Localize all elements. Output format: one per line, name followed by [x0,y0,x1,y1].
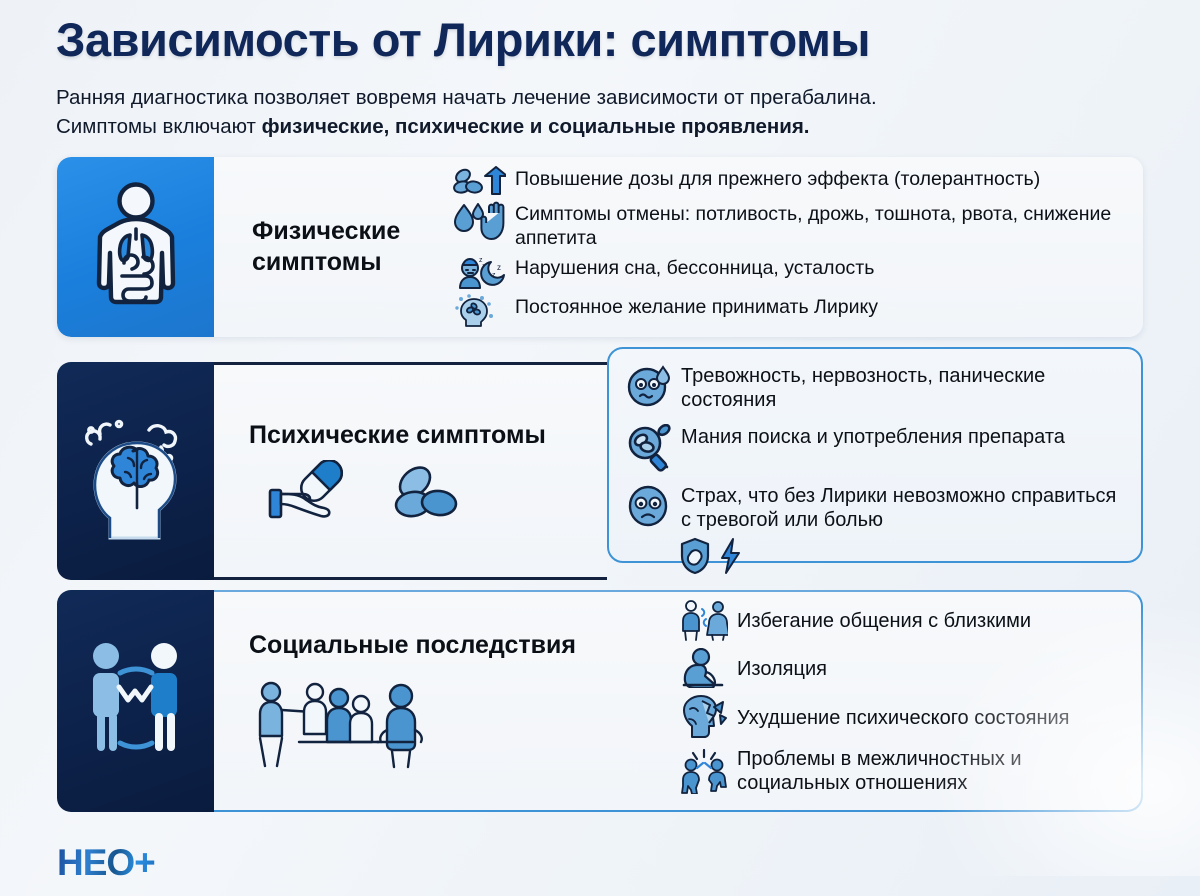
list-item-label: Проблемы в межличностных и социальных от… [737,746,1127,795]
list-item-label: Избегание общения с близкими [737,608,1031,633]
list-item: Мания поиска и употребления препарата [627,424,1127,472]
anxious-face-sweat-icon [627,363,671,409]
mental-section-title: Психические симптомы [249,420,546,451]
mental-extra-icons [627,537,1127,575]
physical-section-title: Физические симптомы [252,216,452,277]
lightning-bolt-icon [719,537,743,575]
list-item: Избегание общения с близкими [680,599,1127,641]
conflict-people-icon [680,748,728,794]
brand-logo: НЕО+ [57,842,155,884]
list-item-label: Тревожность, нервозность, панические сос… [681,363,1127,413]
magnifier-pills-search-icon [627,424,671,472]
human-body-organs-icon [84,181,188,313]
page-subtitle: Ранняя диагностика позволяет вовремя нач… [56,83,1144,141]
subtitle-line-1: Ранняя диагностика позволяет вовремя нач… [56,86,877,109]
list-item: Постоянное желание принимать Лирику [452,294,1125,328]
subtitle-line-2-normal: Симптомы включают [56,115,262,138]
craving-head-icon [452,294,506,328]
list-item: Страх, что без Лирики невозможно справит… [627,483,1127,533]
deteriorating-mind-icon [680,695,728,739]
list-item-label: Ухудшение психического состояния [737,705,1070,730]
list-item: Тревожность, нервозность, панические сос… [627,363,1127,413]
pills-icon [391,462,465,520]
sleeping-person-moon-icon: zz zz [452,255,506,289]
physical-icon-tile [57,157,214,337]
social-icon-tile [57,590,214,812]
isolated-person-icon [680,648,728,688]
list-item-label: Повышение дозы для прежнего эффекта (тол… [515,166,1040,191]
social-body-pane: Социальные последствия [214,590,1143,812]
pills-arrow-up-icon [452,166,506,196]
list-item: Изоляция [680,648,1127,688]
footer: НЕО+ [57,842,155,884]
section-mental-symptoms: Психические симптомы [57,362,607,580]
list-item-label: Изоляция [737,656,827,681]
list-item-label: Страх, что без Лирики невозможно справит… [681,483,1127,533]
mental-decor-icons [249,460,465,522]
list-item: Симптомы отмены: потливость, дрожь, тошн… [452,201,1125,250]
list-item: Ухудшение психического состояния [680,695,1127,739]
svg-text:z: z [497,263,501,272]
physical-body-pane: Физические симптомы Повышение дозы для п… [214,157,1143,337]
hand-holding-capsule-icon [267,460,363,522]
physical-symptom-list: Повышение дозы для прежнего эффекта (тол… [452,166,1125,328]
page-title: Зависимость от Лирики: симптомы [56,14,1144,67]
group-avoidance-icon [249,676,479,772]
sweat-drops-hand-tremor-icon [452,201,506,243]
worried-face-icon [627,483,671,529]
mental-body-pane: Психические симптомы [214,362,607,580]
list-item: Повышение дозы для прежнего эффекта (тол… [452,166,1125,196]
social-symptom-list: Избегание общения с близкими Изоляция [672,592,1141,810]
mental-icon-tile [57,362,214,580]
social-left-column: Социальные последствия [214,592,672,810]
shield-capsule-icon [679,537,711,575]
list-item-label: Симптомы отмены: потливость, дрожь, тошн… [515,201,1125,250]
header: Зависимость от Лирики: симптомы Ранняя д… [0,0,1200,141]
list-item: zz zz Нарушения сна, бессонница, усталос… [452,255,1125,289]
list-item: Проблемы в межличностных и социальных от… [680,746,1127,795]
subtitle-line-2-bold: физические, психические и социальные про… [262,115,810,138]
list-item-label: Мания поиска и употребления препарата [681,424,1065,449]
list-item-label: Постоянное желание принимать Лирику [515,294,878,319]
list-item-label: Нарушения сна, бессонница, усталость [515,255,874,280]
social-section-title: Социальные последствия [249,630,672,661]
two-people-broken-bond-icon [76,639,196,763]
section-social-consequences: Социальные последствия [57,590,1143,812]
mental-symptoms-panel: Тревожность, нервозность, панические сос… [607,347,1143,563]
head-brain-icon [77,400,195,542]
section-physical-symptoms: Физические симптомы Повышение дозы для п… [57,157,1143,337]
avoiding-contact-icon [680,599,728,641]
svg-text:z: z [492,272,496,279]
